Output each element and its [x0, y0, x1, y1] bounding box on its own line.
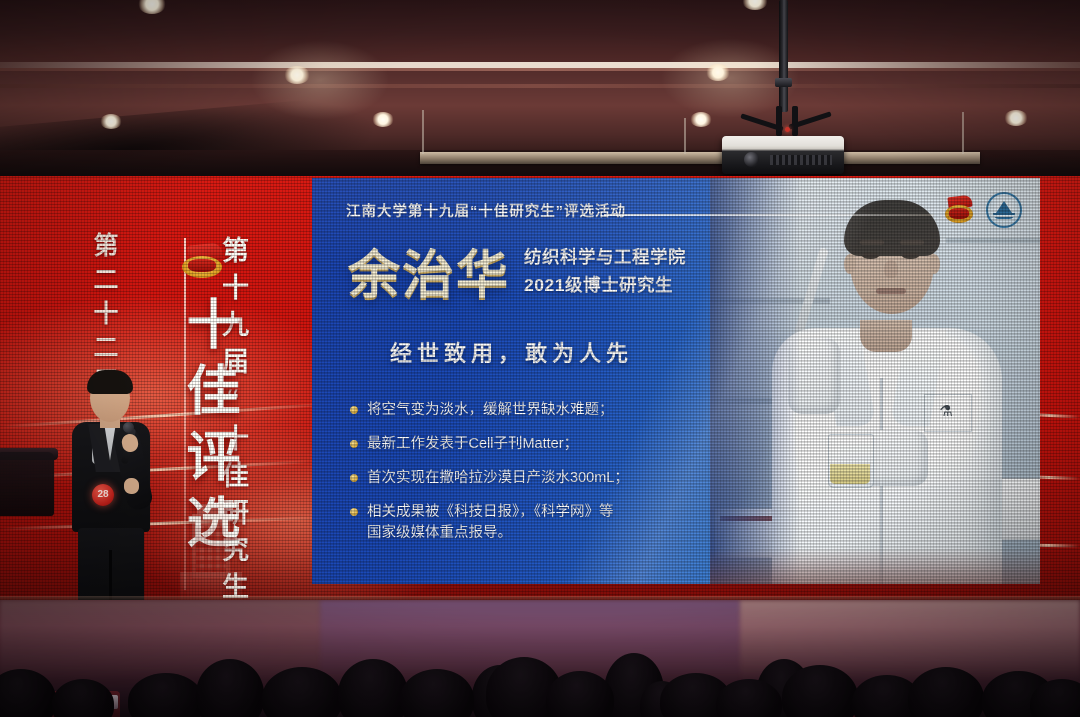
achievement-text-cont: 国家级媒体重点报导。: [367, 523, 614, 544]
rail-wire: [962, 112, 964, 154]
list-item: 最新工作发表于Cell子刊Matter；: [350, 434, 690, 455]
ceiling-rail: [420, 152, 980, 164]
ceiling-spotlight: [742, 0, 768, 10]
bullet-dot-icon: [350, 508, 358, 516]
candidate-identity: 余治华 纺织科学与工程学院 2021级博士研究生: [348, 244, 686, 302]
candidate-motto: 经世致用，敢为人先: [390, 336, 633, 368]
rail-wire: [422, 110, 424, 154]
slide-logos: [944, 192, 1022, 228]
slide-header: 江南大学第十九届“十佳研究生”评选活动: [346, 200, 626, 221]
bullet-dot-icon: [350, 440, 358, 448]
achievement-text: 最新工作发表于Cell子刊Matter；: [367, 434, 578, 455]
coat-logo-glyph: ⚗: [938, 404, 954, 420]
photo-bottom-fade: [710, 548, 1040, 584]
audience-floor: [0, 600, 1080, 717]
ceiling-spotlight: [100, 114, 122, 129]
achievement-text: 首次实现在撒哈拉沙漠日产淡水300mL；: [367, 468, 629, 489]
achievements-list: 将空气变为淡水，缓解世界缺水难题； 最新工作发表于Cell子刊Matter； 首…: [350, 400, 690, 557]
photo-left-fade: [710, 178, 800, 584]
bullet-dot-icon: [350, 406, 358, 414]
list-item: 相关成果被《科技日报》，《科学网》等 国家级媒体重点报导。: [350, 502, 690, 544]
slide-header-rule: [604, 214, 934, 216]
ceiling-spotlight: [1004, 110, 1028, 126]
jiangnan-university-emblem-icon: [986, 192, 1022, 228]
ceiling-strip-shadow: [0, 68, 1080, 71]
ceiling-light-glow: [250, 40, 390, 120]
list-item: 首次实现在撒哈拉沙漠日产淡水300mL；: [350, 468, 690, 489]
projector-pole-joint: [775, 78, 792, 87]
list-item: 将空气变为淡水，缓解世界缺水难题；: [350, 400, 690, 421]
rail-wire: [684, 118, 686, 154]
projector-mount-pole: [779, 0, 788, 112]
projector-power-led: [785, 127, 790, 132]
stage-object: [0, 452, 54, 516]
affiliation-program: 2021级博士研究生: [524, 272, 686, 297]
projected-slide: ⚗ 江南大学第十九届“十佳研究生”评选活动 余治华 纺织科学与工程学院 2021…: [312, 178, 1040, 584]
candidate-name: 余治华: [348, 250, 510, 302]
host-number-badge: 28: [92, 484, 114, 506]
ceiling-spotlight: [372, 112, 394, 127]
slide-header-text: 江南大学第十九届“十佳研究生”评选活动: [346, 200, 626, 221]
candidate-affiliation: 纺织科学与工程学院 2021级博士研究生: [524, 244, 686, 302]
building-motif-icon: [180, 504, 242, 600]
bullet-dot-icon: [350, 474, 358, 482]
host-hand-lower: [124, 478, 139, 494]
microphone-head-icon: [123, 422, 134, 433]
achievement-text: 相关成果被《科技日报》，《科学网》等: [367, 502, 614, 523]
auditorium-scene: 第二十二届 第十九届“十佳研究生” 十佳评选: [0, 0, 1080, 717]
ceiling-edge: [0, 84, 1080, 88]
ceiling-spotlight: [138, 0, 166, 14]
projector-mount-bracket: [740, 104, 832, 140]
projector-lens-icon: [744, 152, 759, 167]
banner-cyl-emblem-icon: [182, 244, 222, 278]
candidate-photo: ⚗: [710, 178, 1040, 584]
projector-vents: [770, 155, 832, 165]
ceiling: [0, 0, 1080, 182]
achievement-text: 将空气变为淡水，缓解世界缺水难题；: [367, 400, 614, 421]
communist-youth-league-emblem-icon: [944, 195, 974, 225]
affiliation-college: 纺织科学与工程学院: [524, 244, 686, 269]
